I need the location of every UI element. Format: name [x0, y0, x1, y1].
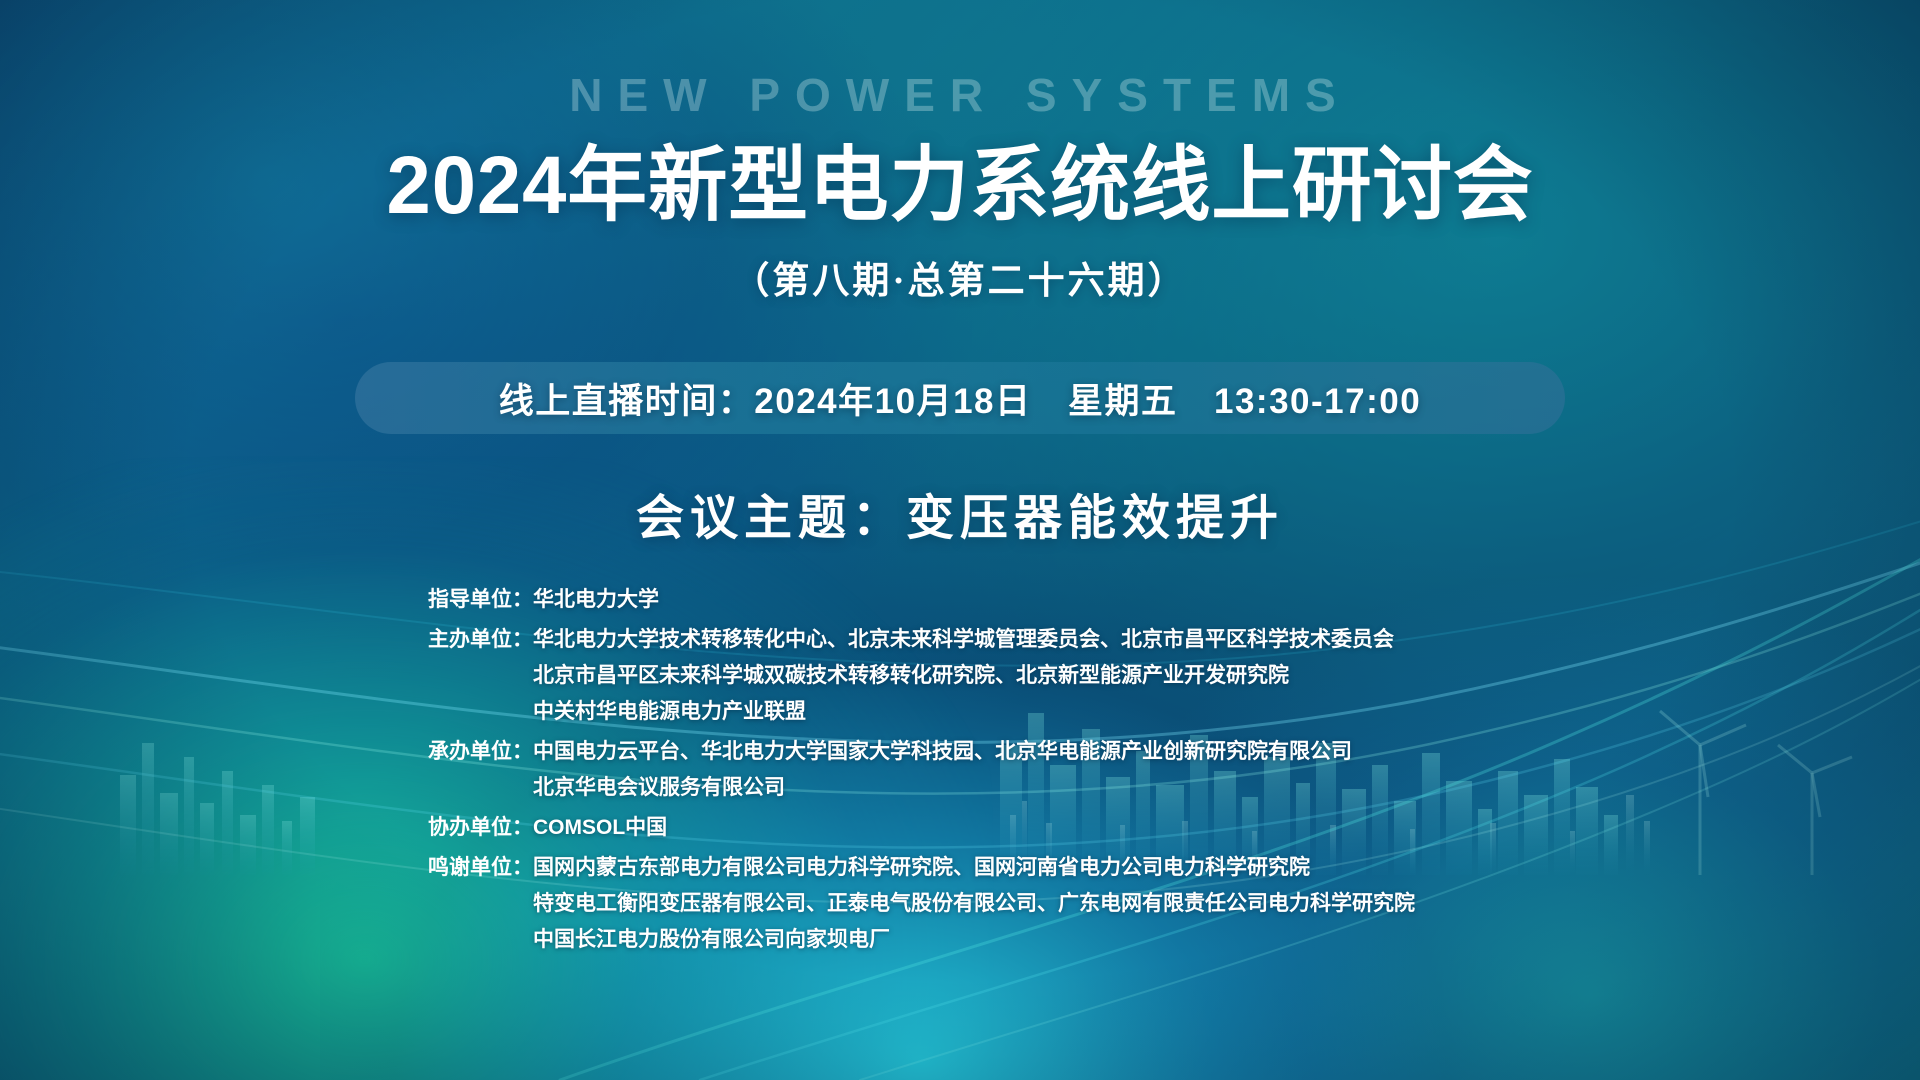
- organization-colon: ：: [512, 622, 533, 658]
- organization-label: 协办单位: [390, 810, 512, 846]
- organization-values: 华北电力大学技术转移转化中心、北京未来科学城管理委员会、北京市昌平区科学技术委员…: [533, 622, 1570, 730]
- organization-label: 鸣谢单位: [390, 850, 512, 886]
- organization-row: 承办单位：中国电力云平台、华北电力大学国家大学科技园、北京华电能源产业创新研究院…: [390, 734, 1570, 806]
- organization-line: COMSOL中国: [533, 810, 1570, 846]
- organization-row: 协办单位：COMSOL中国: [390, 810, 1570, 846]
- organization-colon: ：: [512, 734, 533, 770]
- organization-line: 特变电工衡阳变压器有限公司、正泰电气股份有限公司、广东电网有限责任公司电力科学研…: [533, 886, 1570, 922]
- live-time-text: 线上直播时间：2024年10月18日 星期五 13:30-17:00: [499, 373, 1421, 424]
- organization-label: 指导单位: [390, 582, 512, 618]
- organization-label: 承办单位: [390, 734, 512, 770]
- organizations-list: 指导单位：华北电力大学主办单位：华北电力大学技术转移转化中心、北京未来科学城管理…: [390, 582, 1570, 962]
- organization-row: 鸣谢单位：国网内蒙古东部电力有限公司电力科学研究院、国网河南省电力公司电力科学研…: [390, 850, 1570, 958]
- organization-line: 中国电力云平台、华北电力大学国家大学科技园、北京华电能源产业创新研究院有限公司: [533, 734, 1570, 770]
- organization-row: 主办单位：华北电力大学技术转移转化中心、北京未来科学城管理委员会、北京市昌平区科…: [390, 622, 1570, 730]
- organization-colon: ：: [512, 582, 533, 618]
- organization-row: 指导单位：华北电力大学: [390, 582, 1570, 618]
- organization-values: 中国电力云平台、华北电力大学国家大学科技园、北京华电能源产业创新研究院有限公司北…: [533, 734, 1570, 806]
- organization-line: 国网内蒙古东部电力有限公司电力科学研究院、国网河南省电力公司电力科学研究院: [533, 850, 1570, 886]
- organization-values: COMSOL中国: [533, 810, 1570, 846]
- poster-content: NEW POWER SYSTEMS 2024年新型电力系统线上研讨会 （第八期·…: [0, 0, 1920, 1080]
- poster-kicker: NEW POWER SYSTEMS: [0, 68, 1920, 122]
- organization-line: 中国长江电力股份有限公司向家坝电厂: [533, 922, 1570, 958]
- organization-values: 国网内蒙古东部电力有限公司电力科学研究院、国网河南省电力公司电力科学研究院特变电…: [533, 850, 1570, 958]
- organization-colon: ：: [512, 850, 533, 886]
- poster-sub-title: （第八期·总第二十六期）: [0, 250, 1920, 304]
- organization-line: 北京华电会议服务有限公司: [533, 770, 1570, 806]
- organization-line: 中关村华电能源电力产业联盟: [533, 694, 1570, 730]
- organization-line: 北京市昌平区未来科学城双碳技术转移转化研究院、北京新型能源产业开发研究院: [533, 658, 1570, 694]
- organization-line: 华北电力大学: [533, 582, 1570, 618]
- poster-main-title: 2024年新型电力系统线上研讨会: [29, 118, 1891, 237]
- organization-values: 华北电力大学: [533, 582, 1570, 618]
- organization-line: 华北电力大学技术转移转化中心、北京未来科学城管理委员会、北京市昌平区科学技术委员…: [533, 622, 1570, 658]
- live-time-banner: 线上直播时间：2024年10月18日 星期五 13:30-17:00: [355, 362, 1565, 434]
- organization-colon: ：: [512, 810, 533, 846]
- conference-theme: 会议主题：变压器能效提升: [0, 478, 1920, 548]
- organization-label: 主办单位: [390, 622, 512, 658]
